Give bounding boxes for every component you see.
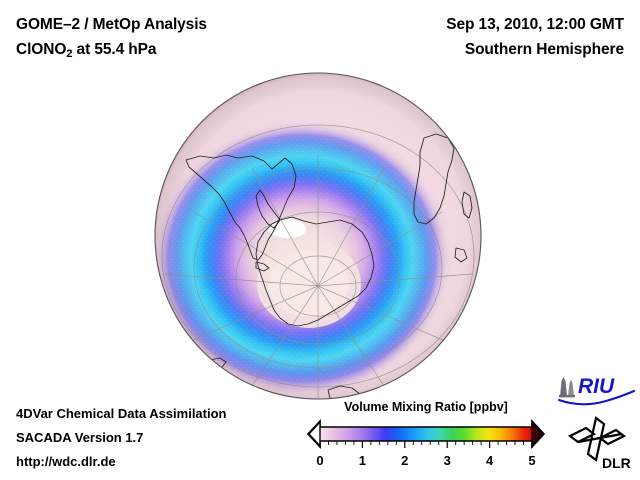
timestamp-label: Sep 13, 2010, 12:00 GMT: [446, 12, 624, 37]
colorbar-tick-labels: 012345: [316, 453, 535, 468]
website-url[interactable]: http://wdc.dlr.de: [16, 450, 227, 474]
colorbar-tick-label: 1: [359, 453, 366, 468]
riu-wordmark: RIU: [578, 375, 615, 398]
orthographic-globe: [152, 72, 488, 406]
riu-logo: RIU: [556, 372, 636, 406]
species-name: ClONO: [16, 41, 66, 58]
analysis-title: GOME–2 / MetOp Analysis: [16, 12, 207, 37]
limb-shading: [152, 72, 488, 406]
globe-map-panel: [152, 72, 488, 406]
globe-disc: [152, 72, 488, 406]
footer-left: 4DVar Chemical Data Assimilation SACADA …: [16, 402, 227, 474]
header-right: Sep 13, 2010, 12:00 GMT Southern Hemisph…: [446, 12, 624, 62]
colorbar-tick-label: 4: [486, 453, 494, 468]
colorbar-gradient: [306, 417, 546, 451]
dlr-logo: DLR: [566, 414, 634, 472]
dlr-mark-icon: [570, 418, 624, 460]
dlr-logo-svg: DLR: [566, 414, 634, 472]
colorbar-left-cap-arrow: [309, 422, 320, 446]
colorbar-tick-label: 0: [316, 453, 323, 468]
colorbar-tick-label: 5: [528, 453, 535, 468]
colorbar-tick-label: 3: [444, 453, 451, 468]
header-left: GOME–2 / MetOp Analysis ClONO2 at 55.4 h…: [16, 12, 207, 67]
version-label: SACADA Version 1.7: [16, 426, 227, 450]
colorbar-title: Volume Mixing Ratio [ppbv]: [306, 400, 546, 414]
riu-tower-icon: [559, 377, 575, 397]
species-level-title: ClONO2 at 55.4 hPa: [16, 37, 207, 67]
pressure-level: at 55.4 hPa: [72, 41, 156, 58]
colorbar: 012345: [306, 417, 546, 473]
colorbar-right-cap-arrow: [532, 422, 543, 446]
riu-logo-svg: RIU: [556, 372, 636, 406]
method-label: 4DVar Chemical Data Assimilation: [16, 402, 227, 426]
colorbar-tick-label: 2: [401, 453, 408, 468]
dlr-wordmark: DLR: [602, 455, 631, 471]
colorbar-block: Volume Mixing Ratio [ppbv] 012345: [306, 400, 546, 473]
colorbar-ticks: [320, 441, 532, 448]
hemisphere-label: Southern Hemisphere: [446, 37, 624, 62]
